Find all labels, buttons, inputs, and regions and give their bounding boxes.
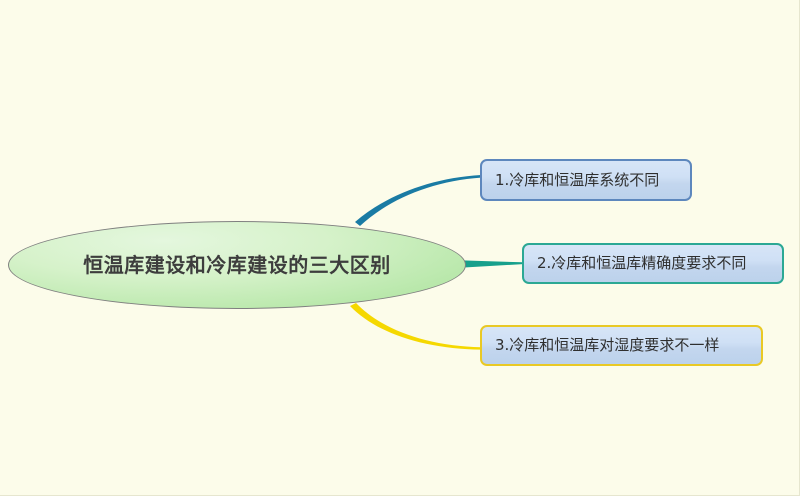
branch-label-2: 2.冷库和恒温库精确度要求不同 xyxy=(524,256,759,271)
central-topic-node[interactable]: 恒温库建设和冷库建设的三大区别 xyxy=(8,221,466,309)
branch-label-3: 3.冷库和恒温库对湿度要求不一样 xyxy=(482,338,732,353)
branch-node-2[interactable]: 2.冷库和恒温库精确度要求不同 xyxy=(522,243,784,284)
connector-branch-1 xyxy=(355,175,481,226)
branch-label-1: 1.冷库和恒温库系统不同 xyxy=(482,173,672,188)
central-topic-label: 恒温库建设和冷库建设的三大区别 xyxy=(83,255,391,275)
branch-node-1[interactable]: 1.冷库和恒温库系统不同 xyxy=(480,159,692,201)
connector-branch-2 xyxy=(462,260,523,267)
branch-node-3[interactable]: 3.冷库和恒温库对湿度要求不一样 xyxy=(480,325,763,366)
connector-branch-3 xyxy=(350,303,481,350)
mindmap-canvas: 恒温库建设和冷库建设的三大区别 1.冷库和恒温库系统不同 2.冷库和恒温库精确度… xyxy=(0,0,800,496)
